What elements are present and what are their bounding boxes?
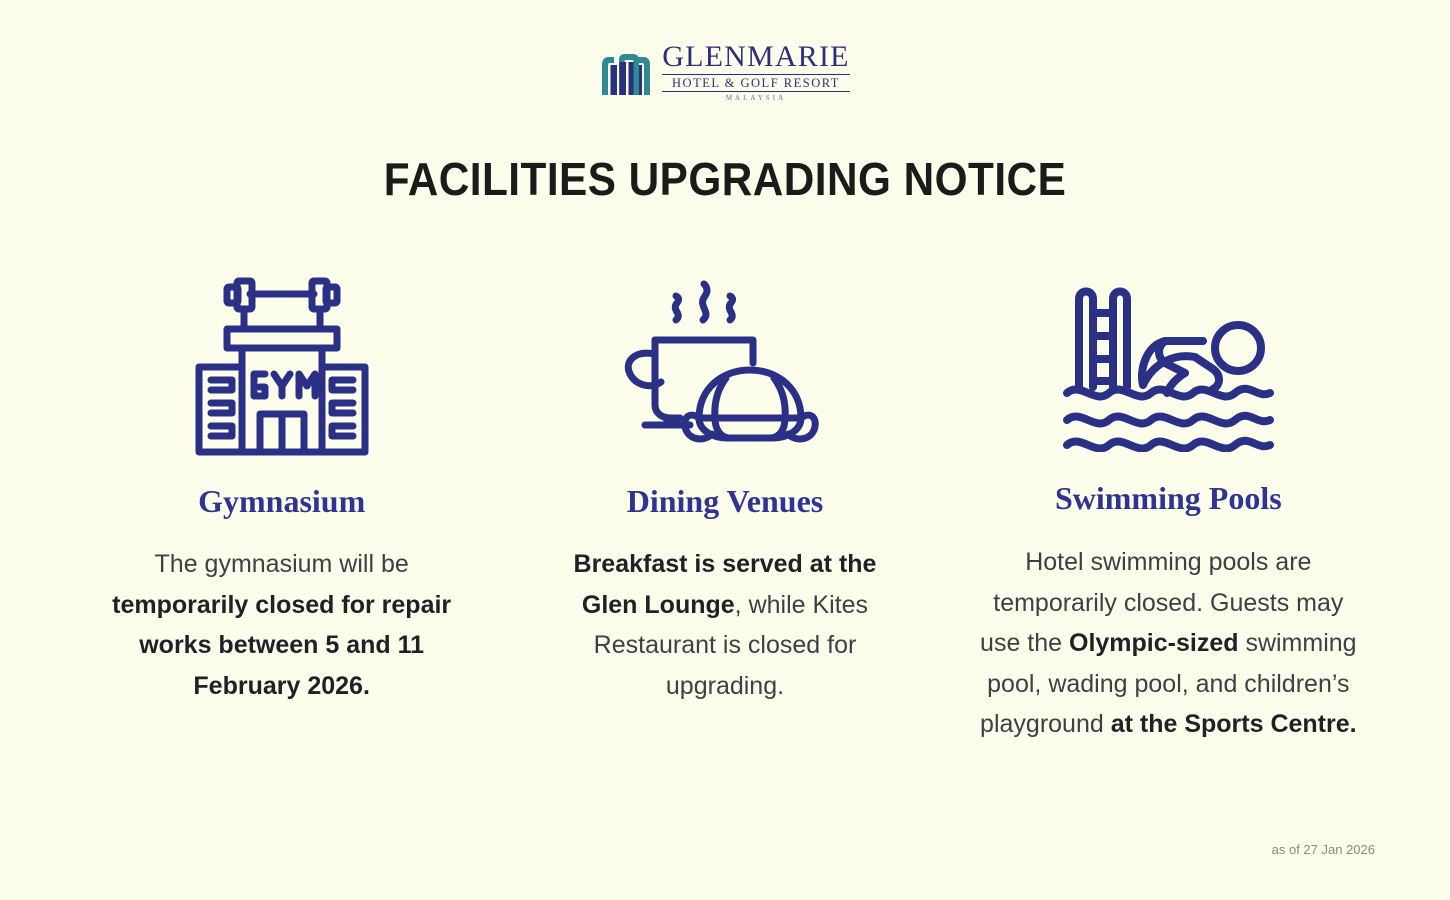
facility-column-pools: Swimming Pools Hotel swimming pools are …	[947, 262, 1390, 745]
logo-lockup: GLENMARIE HOTEL & GOLF RESORT MALAYSIA	[600, 42, 849, 102]
column-heading: Gymnasium	[198, 483, 365, 520]
swimming-pool-icon	[1061, 262, 1276, 467]
column-heading: Swimming Pools	[1055, 480, 1282, 517]
column-body: The gymnasium will be temporarily closed…	[112, 544, 452, 706]
facility-columns: Gymnasium The gymnasium will be temporar…	[60, 262, 1390, 745]
brand-logo: GLENMARIE HOTEL & GOLF RESORT MALAYSIA	[0, 42, 1450, 102]
column-heading: Dining Venues	[627, 483, 824, 520]
body-text-emphasis: Olympic-sized	[1069, 629, 1239, 657]
column-body: Hotel swimming pools are temporarily clo…	[971, 542, 1365, 745]
body-text-emphasis: at the Sports Centre.	[1111, 710, 1357, 738]
gym-building-icon	[187, 262, 377, 467]
logo-country: MALAYSIA	[726, 95, 786, 102]
logo-name: GLENMARIE	[662, 42, 849, 72]
page-title: FACILITIES UPGRADING NOTICE	[58, 152, 1392, 206]
facility-column-dining: Dining Venues Breakfast is served at the…	[503, 262, 946, 706]
logo-wordmark: GLENMARIE HOTEL & GOLF RESORT MALAYSIA	[662, 42, 849, 102]
coffee-croissant-icon	[620, 262, 830, 467]
body-text-emphasis: temporarily closed for repair works betw…	[112, 591, 451, 700]
as-of-timestamp: as of 27 Jan 2026	[1272, 842, 1375, 857]
glenmarie-logo-mark-icon	[600, 49, 652, 95]
column-body: Breakfast is served at the Glen Lounge, …	[549, 544, 901, 706]
facility-column-gymnasium: Gymnasium The gymnasium will be temporar…	[60, 262, 503, 706]
logo-tagline: HOTEL & GOLF RESORT	[662, 74, 849, 92]
body-text: The gymnasium will be	[155, 550, 409, 578]
